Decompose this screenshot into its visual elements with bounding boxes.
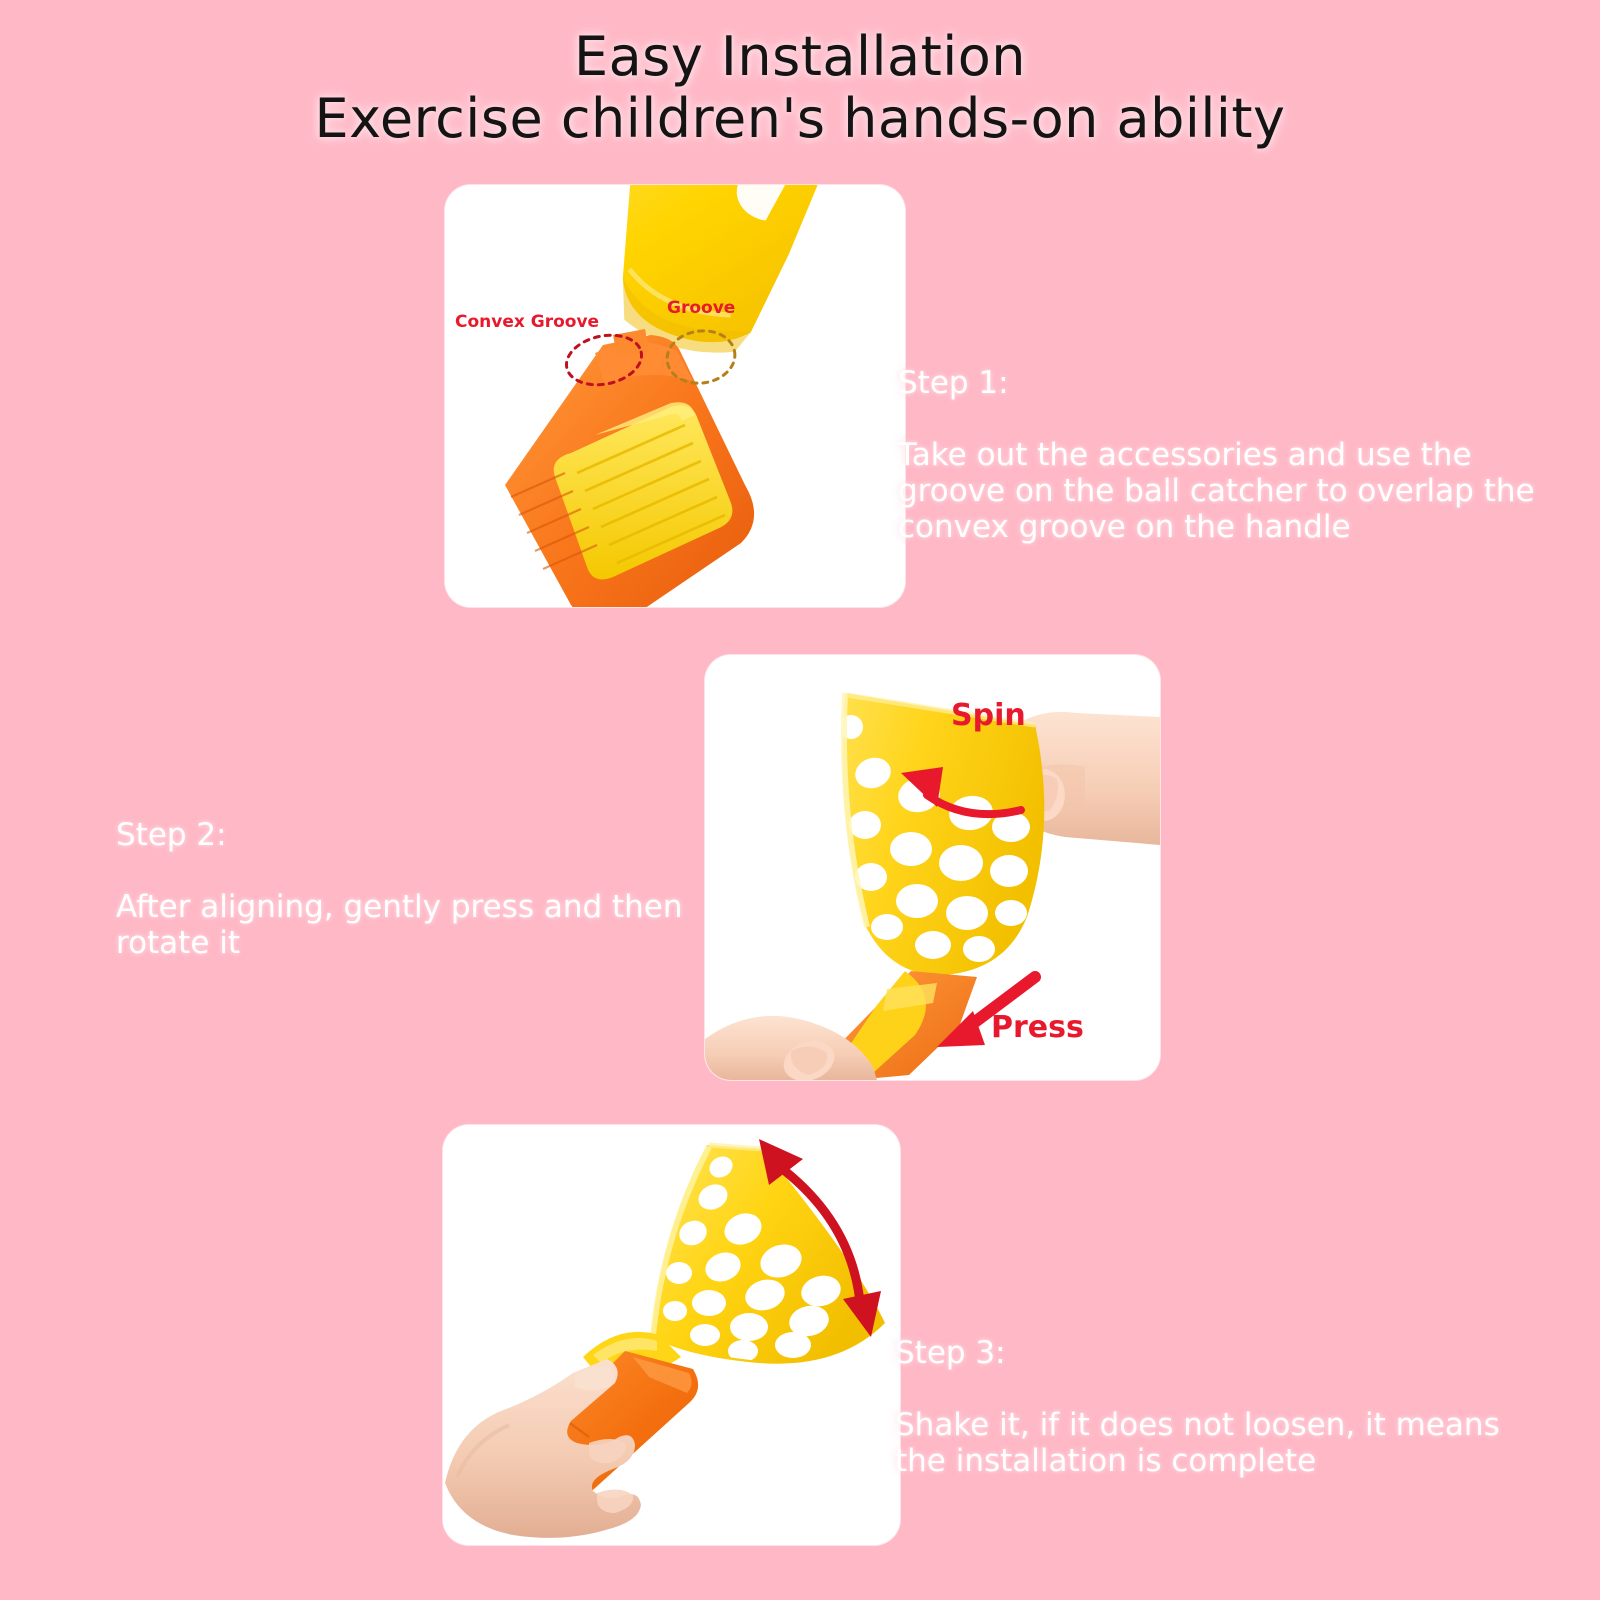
step-2-description: Step 2: After aligning, gently press and…: [116, 782, 716, 998]
step-2-product-photo: Spin Press: [705, 655, 1160, 1080]
page-title-line-1: Easy Installation: [0, 28, 1600, 86]
convex-groove-label: Convex Groove: [455, 312, 599, 332]
step-1-product-photo: Convex Groove Groove: [445, 185, 905, 607]
step-1-photo-panel: Convex Groove Groove: [445, 185, 905, 607]
step-2-photo-panel: Spin Press: [705, 655, 1160, 1080]
step-3-label: Step 3:: [895, 1336, 1545, 1372]
spin-label: Spin: [951, 698, 1026, 733]
yellow-ball-catcher: [839, 693, 1044, 975]
step-3-product-photo: [443, 1125, 900, 1545]
infographic-canvas: Easy Installation Exercise children's ha…: [0, 0, 1600, 1600]
press-label: Press: [991, 1010, 1084, 1045]
page-title-line-2: Exercise children's hands-on ability: [0, 90, 1600, 148]
step-1-label: Step 1:: [898, 366, 1548, 402]
step-1-body: Take out the accessories and use the gro…: [898, 438, 1548, 546]
step-3-body: Shake it, if it does not loosen, it mean…: [895, 1408, 1545, 1480]
step-2-body: After aligning, gently press and then ro…: [116, 890, 716, 962]
page-title: Easy Installation Exercise children's ha…: [0, 28, 1600, 149]
step-3-description: Step 3: Shake it, if it does not loosen,…: [895, 1300, 1545, 1516]
step-3-photo-panel: [443, 1125, 900, 1545]
step-2-label: Step 2:: [116, 818, 716, 854]
step-1-description: Step 1: Take out the accessories and use…: [898, 330, 1548, 582]
groove-label: Groove: [667, 298, 735, 318]
